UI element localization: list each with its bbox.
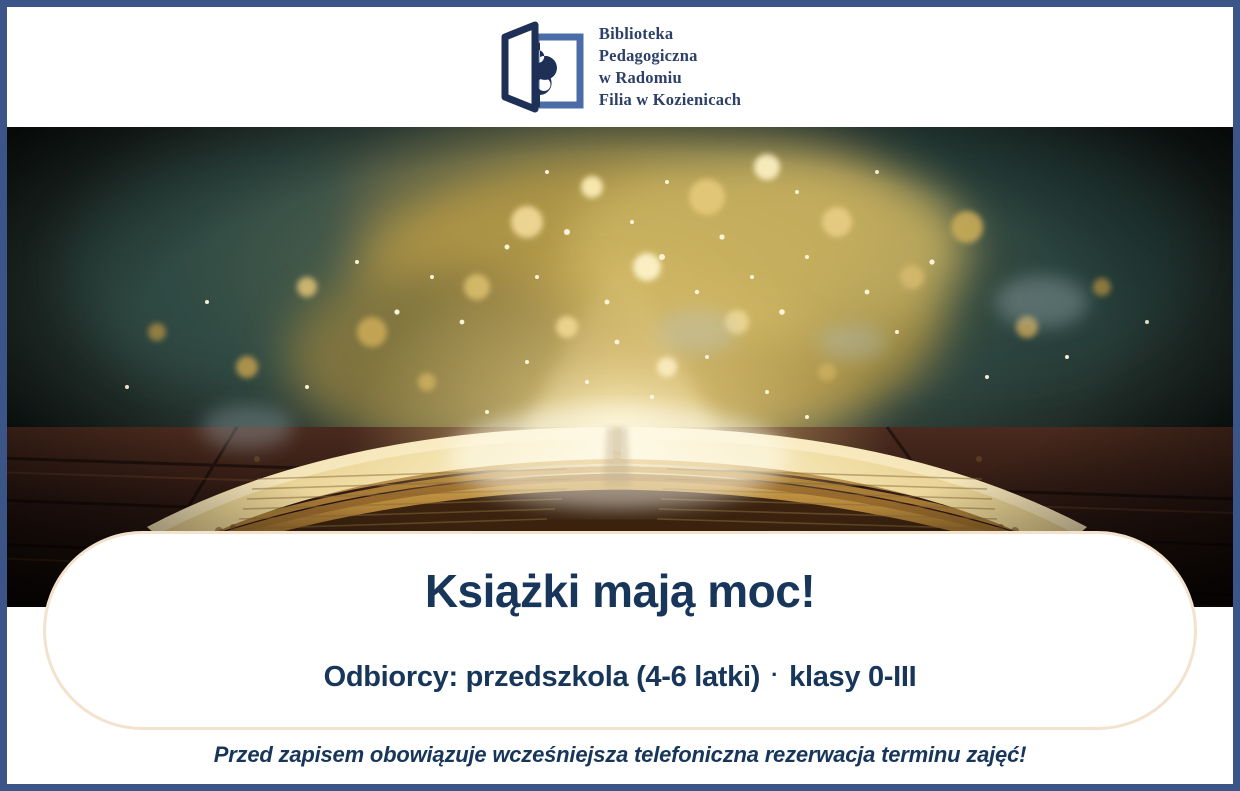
audience-label: Odbiorcy: (324, 661, 458, 694)
logo-line-3: w Radomiu (599, 67, 741, 89)
library-logo: Biblioteka Pedagogiczna w Radomiu Filia … (499, 21, 741, 113)
logo-line-1: Biblioteka (599, 23, 741, 45)
reservation-note: Przed zapisem obowiązuje wcześniejsza te… (7, 742, 1233, 768)
open-book-door-bp-logo-icon (499, 21, 585, 113)
logo-line-4: Filia w Kozienicach (599, 89, 741, 111)
audience-item-grades: klasy 0-III (789, 661, 916, 694)
audience-separator-dot: · (760, 664, 789, 686)
page-title: Książki mają moc! (425, 566, 815, 617)
logo-line-2: Pedagogiczna (599, 45, 741, 67)
audience-line: Odbiorcy: przedszkola (4-6 latki) · klas… (324, 661, 917, 694)
header-band: Biblioteka Pedagogiczna w Radomiu Filia … (7, 7, 1233, 127)
poster-root: Biblioteka Pedagogiczna w Radomiu Filia … (0, 0, 1240, 791)
info-card: Książki mają moc! Odbiorcy: przedszkola … (43, 531, 1197, 730)
audience-item-preschool: przedszkola (4-6 latki) (466, 661, 760, 694)
logo-wordmark: Biblioteka Pedagogiczna w Radomiu Filia … (599, 23, 741, 111)
